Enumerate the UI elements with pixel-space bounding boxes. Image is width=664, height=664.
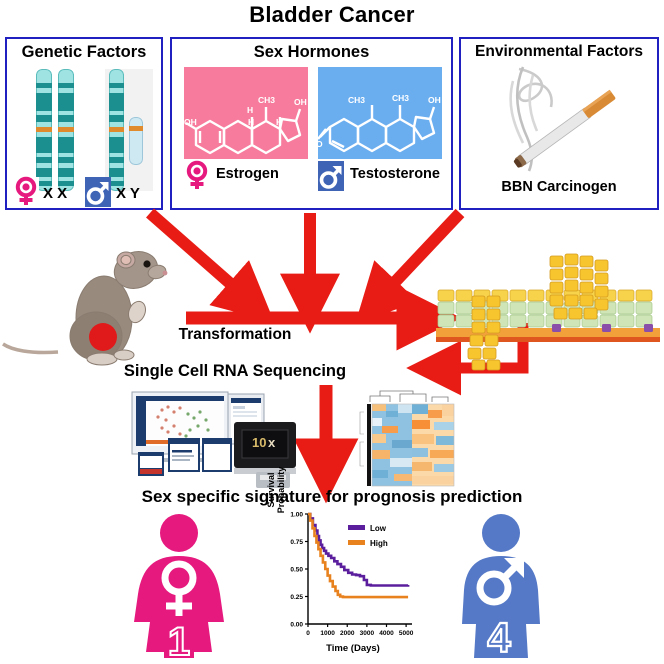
survival-chart-xlabel: Time (Days) (298, 643, 408, 654)
estrogen-female-symbol-icon (184, 161, 210, 191)
chromosome-pair-xx (34, 69, 80, 191)
svg-text:x: x (268, 435, 276, 450)
svg-text:OH: OH (428, 95, 441, 105)
survival-chart-plot-area: 0.000.250.500.751.0001000200030004000500… (268, 506, 418, 646)
survival-chart-ylabel: Survival Probability (266, 450, 286, 530)
svg-text:0: 0 (306, 630, 310, 637)
female-person-icon: 1 (120, 512, 238, 660)
svg-text:OH: OH (294, 97, 307, 107)
svg-text:CH3: CH3 (348, 95, 365, 105)
testosterone-male-symbol-icon (318, 161, 344, 191)
survival-curve-chart: Survival Probability Time (Days) 0.000.2… (268, 506, 418, 658)
male-cohort-number: 4 (487, 614, 511, 661)
svg-text:Low: Low (370, 524, 387, 533)
panel-sex-hormones: Sex Hormones CH3 OH H H H (170, 37, 453, 210)
estrogen-label: Estrogen (216, 166, 279, 182)
transformation-label: Transformation (0, 326, 470, 344)
svg-text:4000: 4000 (379, 630, 394, 637)
svg-text:0.00: 0.00 (290, 622, 303, 629)
svg-text:CH3: CH3 (392, 93, 409, 103)
genetic-male-karyotype-label: X Y (116, 185, 140, 202)
svg-text:H: H (247, 105, 253, 115)
svg-text:2000: 2000 (340, 630, 355, 637)
male-person-icon: 4 (442, 512, 560, 660)
chromosome-pair-xy (105, 69, 153, 191)
signature-label: Sex specific signature for prognosis pre… (0, 487, 664, 507)
panel-genetic-factors: Genetic Factors (5, 37, 163, 210)
testosterone-structure-icon: CH3 CH3 OH O (318, 67, 442, 159)
female-cohort-number: 1 (168, 620, 190, 664)
single-cell-rna-sequencing-label: Single Cell RNA Sequencing (0, 362, 470, 381)
svg-text:5000: 5000 (399, 630, 414, 637)
male-symbol-icon (85, 177, 111, 207)
panel-genetic-factors-title: Genetic Factors (7, 43, 161, 62)
mouse-icon (0, 240, 200, 365)
svg-text:0.25: 0.25 (290, 594, 303, 601)
svg-text:3000: 3000 (360, 630, 375, 637)
svg-text:0.50: 0.50 (290, 567, 303, 574)
panel-sex-hormones-title: Sex Hormones (172, 43, 451, 62)
bladder-epithelium-icon (432, 250, 664, 372)
genetic-female-karyotype-label: X X (43, 185, 67, 202)
svg-text:0.75: 0.75 (290, 539, 303, 546)
cigarette-icon (483, 61, 638, 181)
gene-expression-heatmap-icon (356, 388, 460, 492)
page-title: Bladder Cancer (0, 2, 664, 28)
bbn-carcinogen-label: BBN Carcinogen (461, 179, 657, 195)
svg-text:1.00: 1.00 (290, 512, 303, 519)
svg-text:H: H (276, 117, 282, 127)
svg-text:OH: OH (184, 117, 197, 127)
svg-text:1000: 1000 (320, 630, 335, 637)
panel-environmental-factors: Environmental Factors BBN Carcinogen (459, 37, 659, 210)
estrogen-structure-icon: CH3 OH H H H OH (184, 67, 308, 159)
svg-text:10: 10 (252, 435, 266, 450)
svg-text:CH3: CH3 (258, 95, 275, 105)
testosterone-label: Testosterone (350, 166, 440, 182)
female-symbol-icon (13, 177, 39, 207)
svg-text:O: O (316, 139, 323, 149)
panel-environmental-factors-title: Environmental Factors (461, 43, 657, 61)
svg-text:H: H (248, 117, 254, 127)
svg-text:High: High (370, 539, 388, 548)
